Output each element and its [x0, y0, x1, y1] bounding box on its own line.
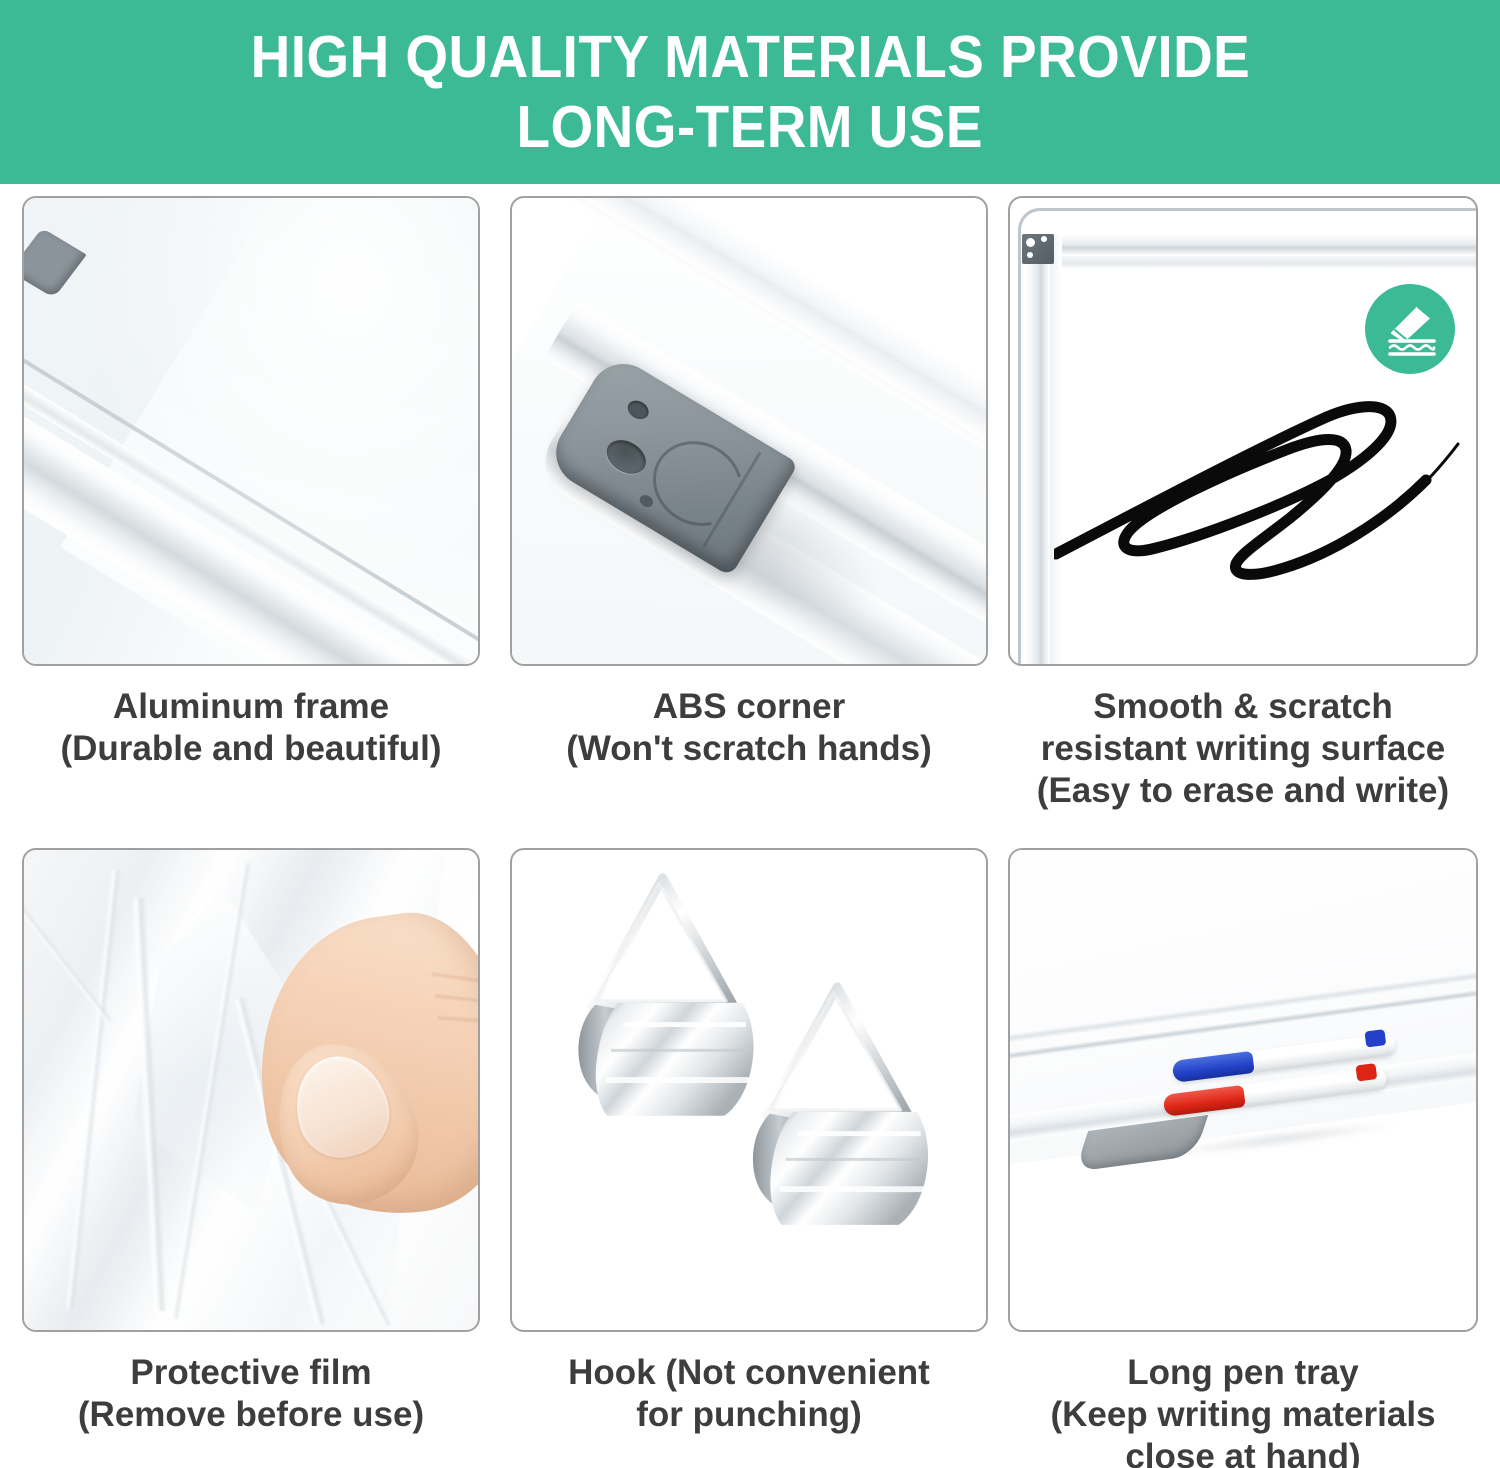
photo-hook — [510, 848, 988, 1332]
bracket-screw-3 — [1027, 252, 1033, 258]
feature-grid: Aluminum frame (Durable and beautiful) — [0, 184, 1500, 1468]
caption-aluminum-frame: Aluminum frame (Durable and beautiful) — [22, 686, 480, 770]
abs-screw-hole-tiny — [638, 493, 656, 510]
finger-crease — [435, 995, 480, 1004]
hook-item — [753, 987, 928, 1225]
corner-bracket — [1022, 234, 1054, 264]
marker-writing-on-surface-icon — [1378, 297, 1442, 361]
caption-pen-tray: Long pen tray (Keep writing materials cl… — [1008, 1352, 1478, 1468]
caption-writing-surface: Smooth & scratch resistant writing surfa… — [1008, 686, 1478, 812]
feature-card-writing-surface: Smooth & scratch resistant writing surfa… — [1008, 196, 1478, 812]
photo-aluminum-frame — [22, 196, 480, 666]
header-title-line-2: LONG-TERM USE — [517, 92, 983, 162]
status-badge — [1365, 284, 1455, 374]
abs-screw-hole-small — [624, 397, 652, 423]
feature-card-abs-corner: ABS corner (Won't scratch hands) — [510, 196, 988, 770]
whiteboard-top-rail-inner — [1026, 256, 1478, 269]
infographic-page: HIGH QUALITY MATERIALS PROVIDE LONG-TERM… — [0, 0, 1500, 1468]
header-banner: HIGH QUALITY MATERIALS PROVIDE LONG-TERM… — [0, 0, 1500, 184]
finger-crease — [432, 973, 480, 984]
header-title-line-1: HIGH QUALITY MATERIALS PROVIDE — [250, 22, 1250, 92]
highlight-glow — [24, 198, 478, 664]
whiteboard-left-rail — [1026, 234, 1050, 666]
whiteboard-top-rail — [1026, 234, 1478, 256]
marker-clip — [1364, 1030, 1386, 1048]
photo-writing-surface — [1008, 196, 1478, 666]
photo-abs-corner — [510, 196, 988, 666]
finger-crease — [438, 1016, 480, 1023]
feature-card-hook: Hook (Not convenient for punching) — [510, 848, 988, 1436]
hook-pair-illustration — [512, 850, 986, 1330]
bracket-screw-1 — [1026, 238, 1035, 247]
caption-protective-film: Protective film (Remove before use) — [22, 1352, 480, 1436]
feature-card-pen-tray: Long pen tray (Keep writing materials cl… — [1008, 848, 1478, 1468]
caption-abs-corner: ABS corner (Won't scratch hands) — [510, 686, 988, 770]
caption-hook: Hook (Not convenient for punching) — [510, 1352, 988, 1436]
signature-scribble-icon — [1054, 358, 1474, 628]
hook-item — [578, 878, 753, 1116]
photo-protective-film — [22, 848, 480, 1332]
feature-card-aluminum-frame: Aluminum frame (Durable and beautiful) — [22, 196, 480, 770]
bracket-screw-2 — [1041, 236, 1047, 242]
marker-clip — [1355, 1063, 1377, 1081]
feature-card-protective-film: Protective film (Remove before use) — [22, 848, 480, 1436]
photo-pen-tray — [1008, 848, 1478, 1332]
abs-screw-hole-large — [601, 433, 652, 480]
